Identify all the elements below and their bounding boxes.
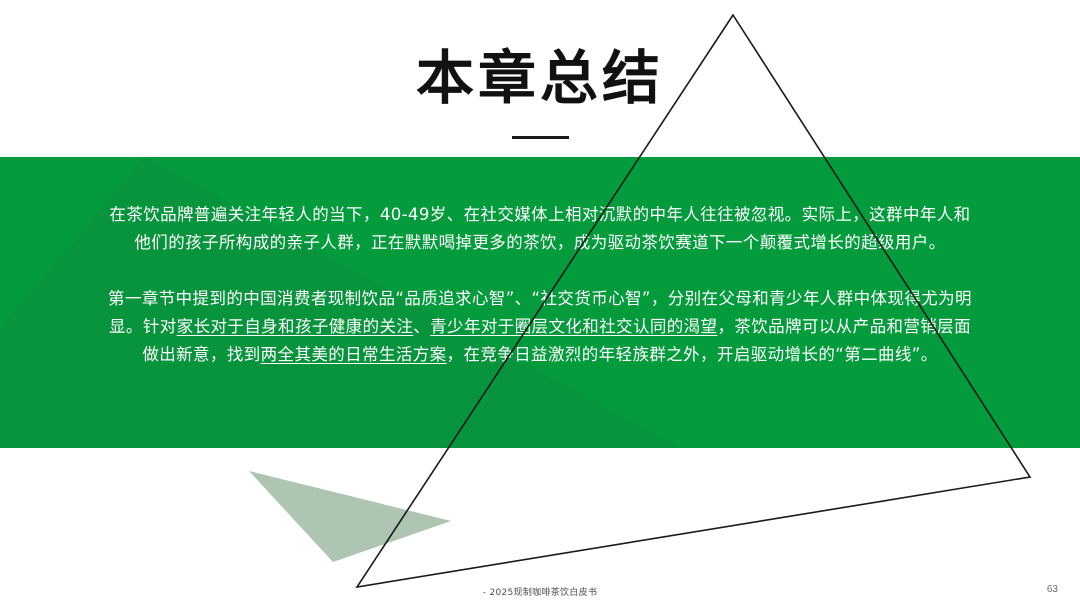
summary-paragraph-1: 在茶饮品牌普遍关注年轻人的当下，40-49岁、在社交媒体上相对沉默的中年人往往被… bbox=[104, 201, 976, 257]
page-number: 63 bbox=[1047, 584, 1058, 595]
title-divider bbox=[512, 136, 569, 139]
paragraph-2-underline-3: 两全其美的日常生活方案 bbox=[261, 345, 447, 364]
page-title: 本章总结 bbox=[0, 44, 1080, 112]
paragraph-2-underline-2: 青少年对于圈层文化和社交认同的渴望 bbox=[430, 317, 717, 336]
slide-canvas: 本章总结 在茶饮品牌普遍关注年轻人的当下，40-49岁、在社交媒体上相对沉默的中… bbox=[0, 0, 1080, 608]
green-content-band: 在茶饮品牌普遍关注年轻人的当下，40-49岁、在社交媒体上相对沉默的中年人往往被… bbox=[0, 157, 1080, 448]
summary-text-container: 在茶饮品牌普遍关注年轻人的当下，40-49岁、在社交媒体上相对沉默的中年人往往被… bbox=[0, 157, 1080, 448]
paragraph-2-segment-4: ，在竞争日益激烈的年轻族群之外，开启驱动增长的“第二曲线”。 bbox=[447, 345, 938, 364]
footer-source-note: - 2025现制咖啡茶饮白皮书 bbox=[0, 585, 1080, 598]
summary-paragraph-2: 第一章节中提到的中国消费者现制饮品“品质追求心智”、“社交货币心智”，分别在父母… bbox=[104, 285, 976, 369]
light-green-triangle-icon bbox=[249, 471, 451, 562]
paragraph-2-underline-1: 家长对于自身和孩子健康的关注 bbox=[177, 317, 414, 336]
paragraph-2-segment-2: 、 bbox=[413, 317, 430, 336]
title-block: 本章总结 bbox=[0, 44, 1080, 139]
